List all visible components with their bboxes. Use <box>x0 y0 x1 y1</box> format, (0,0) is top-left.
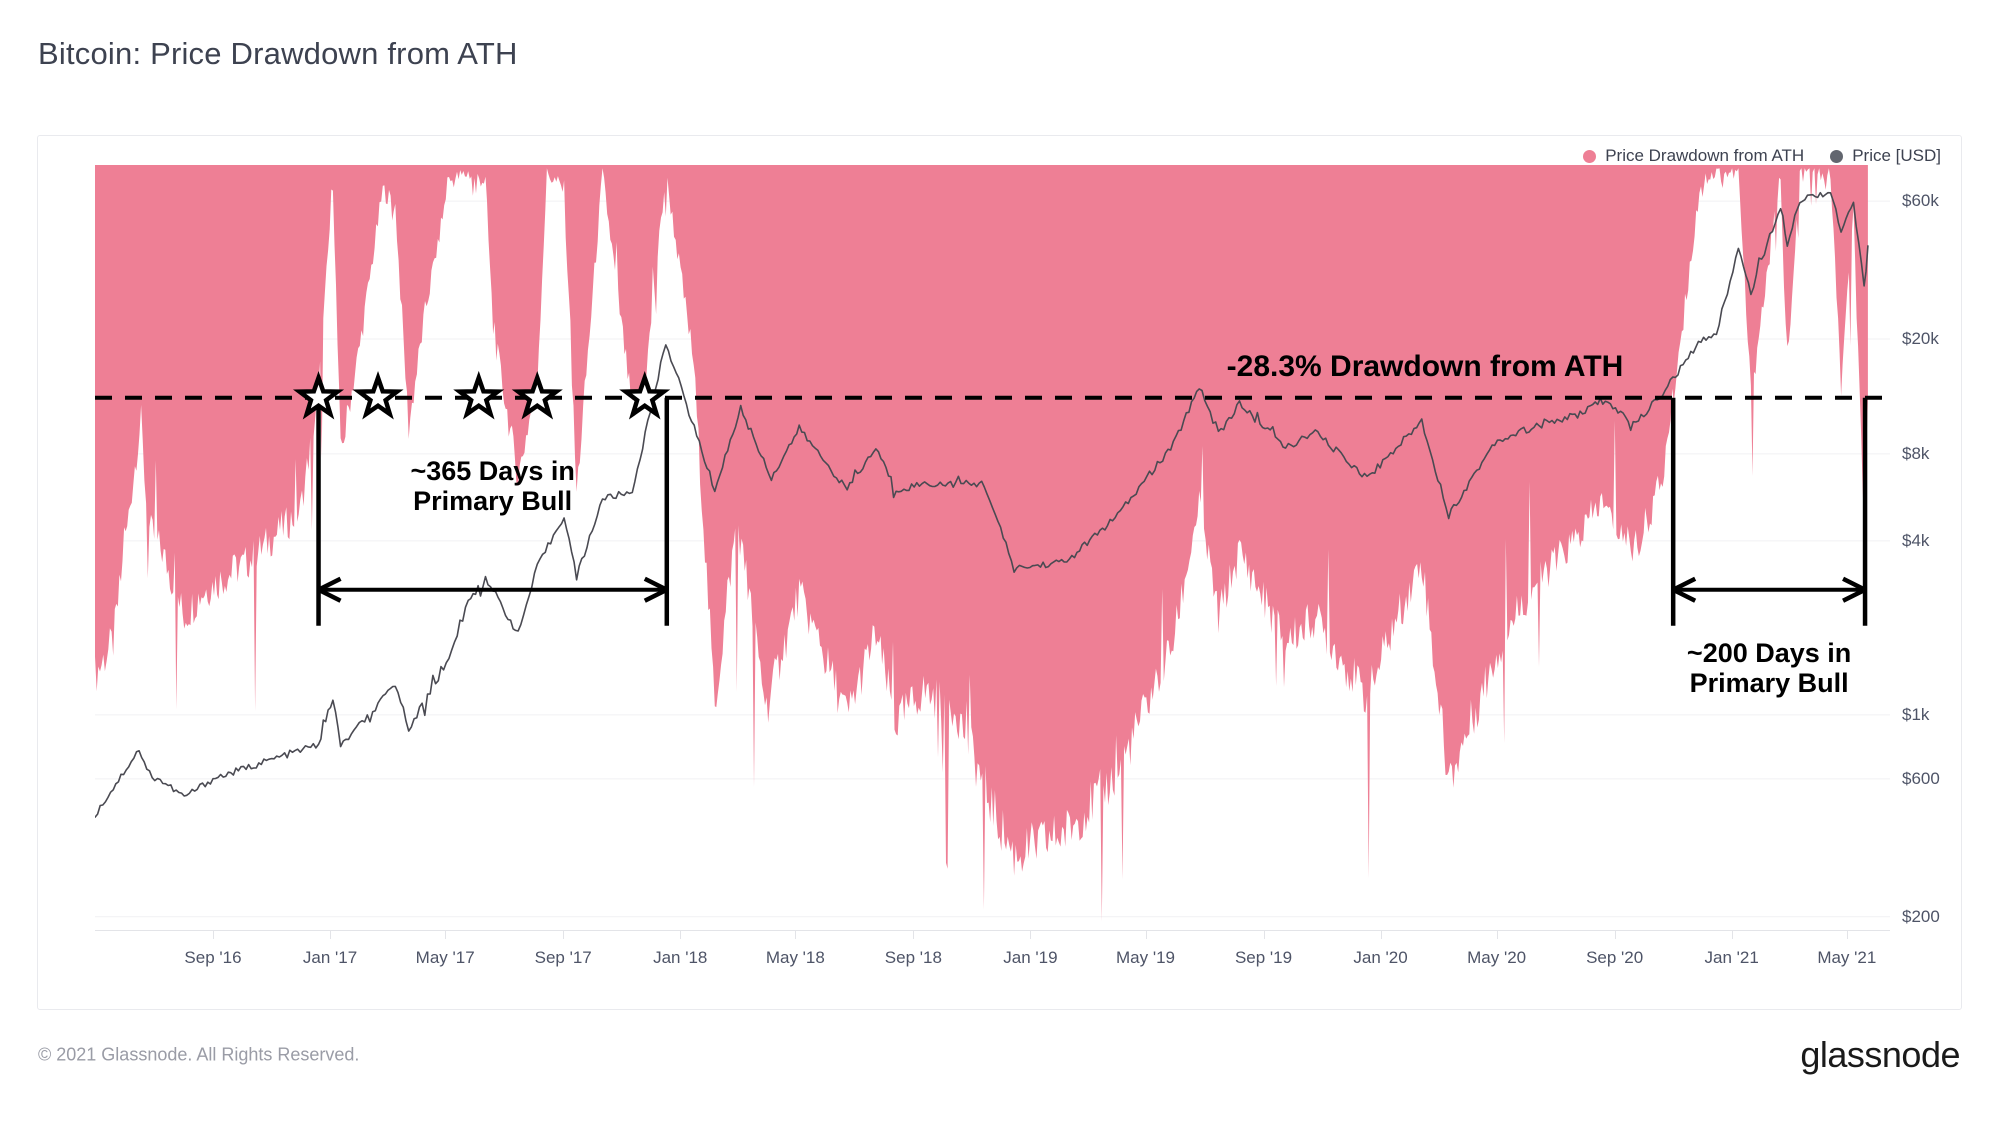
x-axis-tickmark <box>1381 930 1382 939</box>
x-axis-tick: May '21 <box>1817 948 1876 968</box>
x-axis-tickmark <box>1847 930 1848 939</box>
drawdown-annotation: -28.3% Drawdown from ATH <box>1185 350 1665 384</box>
x-axis: Sep '16Jan '17May '17Sep '17Jan '18May '… <box>95 930 1890 980</box>
chart-page: Bitcoin: Price Drawdown from ATH Price D… <box>0 0 2000 1125</box>
x-axis-tick: Sep '18 <box>885 948 942 968</box>
x-axis-tick: May '17 <box>416 948 475 968</box>
x-axis-tickmark <box>1615 930 1616 939</box>
bull-span-2021-annotation: ~200 Days in Primary Bull <box>1613 638 1925 699</box>
x-axis-tick: Sep '20 <box>1586 948 1643 968</box>
x-axis-tick: Jan '21 <box>1705 948 1759 968</box>
legend-label-price: Price [USD] <box>1852 146 1941 166</box>
plot-area[interactable] <box>95 165 1890 930</box>
x-axis-tick: Sep '16 <box>184 948 241 968</box>
y-axis-right-tick: $200 <box>1902 907 1940 927</box>
y-axis-right-tick: $8k <box>1902 444 1929 464</box>
page-title: Bitcoin: Price Drawdown from ATH <box>38 36 518 72</box>
x-axis-tick: Jan '20 <box>1353 948 1407 968</box>
legend-item-drawdown[interactable]: Price Drawdown from ATH <box>1583 146 1804 166</box>
x-axis-tick: Jan '17 <box>303 948 357 968</box>
x-axis-tickmark <box>1146 930 1147 939</box>
x-axis-tickmark <box>913 930 914 939</box>
x-axis-tickmark <box>213 930 214 939</box>
x-axis-tickmark <box>1030 930 1031 939</box>
x-axis-tick: May '20 <box>1467 948 1526 968</box>
y-axis-right-tick: $600 <box>1902 769 1940 789</box>
x-axis-tickmark <box>330 930 331 939</box>
y-axis-right-tick: $1k <box>1902 705 1929 725</box>
legend-label-drawdown: Price Drawdown from ATH <box>1605 146 1804 166</box>
x-axis-tickmark <box>445 930 446 939</box>
x-axis-tick: May '18 <box>766 948 825 968</box>
x-axis-tick: May '19 <box>1116 948 1175 968</box>
legend-item-price[interactable]: Price [USD] <box>1830 146 1941 166</box>
x-axis-tickmark <box>563 930 564 939</box>
x-axis-tickmark <box>1497 930 1498 939</box>
x-axis-tickmark <box>680 930 681 939</box>
glassnode-logo: glassnode <box>1800 1034 1960 1076</box>
y-axis-right-tick: $4k <box>1902 531 1929 551</box>
x-axis-tick: Jan '18 <box>653 948 707 968</box>
y-axis-right: $60k$20k$8k$4k$1k$600$200 <box>1890 165 2000 930</box>
x-axis-tick: Jan '19 <box>1003 948 1057 968</box>
y-axis-right-tick: $20k <box>1902 329 1939 349</box>
x-axis-tickmark <box>1732 930 1733 939</box>
copyright-text: © 2021 Glassnode. All Rights Reserved. <box>38 1045 359 1066</box>
x-axis-tickmark <box>1264 930 1265 939</box>
x-axis-tickmark <box>795 930 796 939</box>
legend-dot-drawdown <box>1583 150 1596 163</box>
chart-canvas <box>95 165 1890 930</box>
legend-dot-price <box>1830 150 1843 163</box>
x-axis-tick: Sep '19 <box>1235 948 1292 968</box>
x-axis-tick: Sep '17 <box>535 948 592 968</box>
bull-span-2017-annotation: ~365 Days in Primary Bull <box>341 456 645 517</box>
chart-legend: Price Drawdown from ATH Price [USD] <box>1583 146 1941 166</box>
y-axis-right-tick: $60k <box>1902 191 1939 211</box>
